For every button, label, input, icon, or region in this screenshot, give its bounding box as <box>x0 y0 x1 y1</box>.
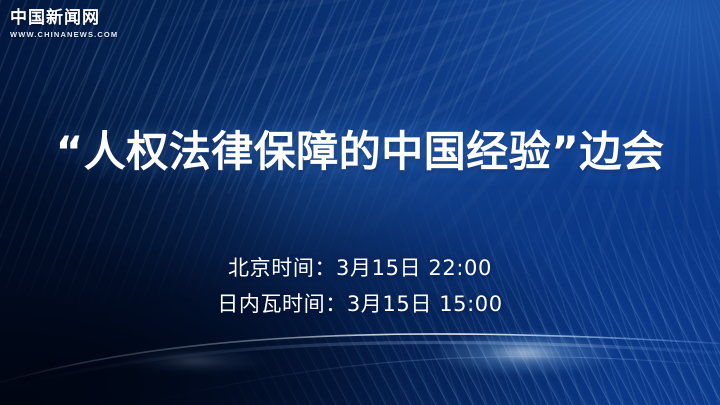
poster-content: 中国新闻网 WWW.CHINANEWS.COM “人权法律保障的中国经验”边会 … <box>0 0 720 405</box>
logo-chinese-name: 中国新闻网 <box>10 8 122 28</box>
beijing-time-line: 北京时间：3月15日 22:00 <box>0 250 720 286</box>
event-times: 北京时间：3月15日 22:00 日内瓦时间：3月15日 15:00 <box>0 250 720 322</box>
poster-canvas: 中国新闻网 WWW.CHINANEWS.COM “人权法律保障的中国经验”边会 … <box>0 0 720 405</box>
geneva-time-line: 日内瓦时间：3月15日 15:00 <box>0 286 720 322</box>
page-title: “人权法律保障的中国经验”边会 <box>0 126 720 178</box>
logo-website-url: WWW.CHINANEWS.COM <box>10 30 122 40</box>
chinanews-logo: 中国新闻网 WWW.CHINANEWS.COM <box>10 8 122 40</box>
